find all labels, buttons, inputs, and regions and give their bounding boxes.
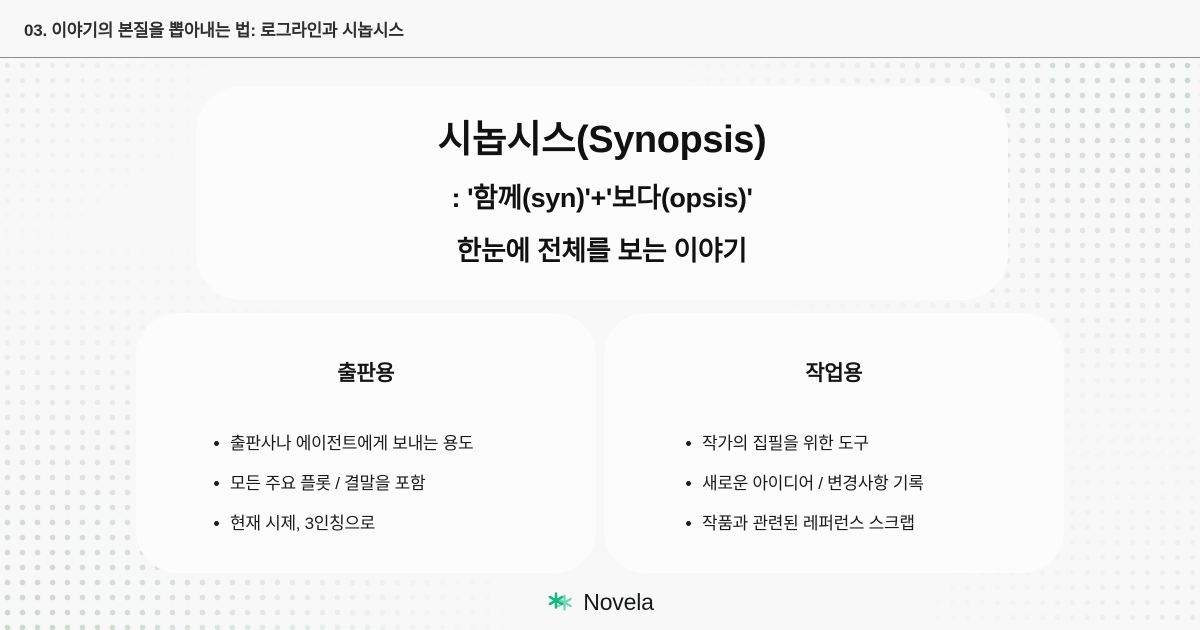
list-item: 모든 주요 플롯 / 결말을 포함 <box>214 475 596 492</box>
bullet-list-working: 작가의 집필을 위한 도구 새로운 아이디어 / 변경사항 기록 작품과 관련된… <box>604 435 1064 532</box>
panel-heading-publishing: 출판용 <box>136 357 596 387</box>
list-item: 현재 시제, 3인칭으로 <box>214 515 596 532</box>
list-item: 작가의 집필을 위한 도구 <box>686 435 1064 452</box>
panel-heading-working: 작업용 <box>604 357 1064 387</box>
list-item: 작품과 관련된 레퍼런스 스크랩 <box>686 515 1064 532</box>
list-item: 출판사나 에이전트에게 보내는 용도 <box>214 435 596 452</box>
definition-meaning: 한눈에 전체를 보는 이야기 <box>457 238 747 265</box>
brand-logo: Novela <box>546 588 653 616</box>
bullet-list-publishing: 출판사나 에이전트에게 보내는 용도 모든 주요 플롯 / 결말을 포함 현재 … <box>136 435 596 532</box>
definition-etymology: : '함께(syn)'+'보다(opsis)' <box>451 185 752 212</box>
slide-footer: Novela <box>0 588 1200 616</box>
definition-term: 시놉시스(Synopsis) <box>438 121 767 159</box>
list-item: 새로운 아이디어 / 변경사항 기록 <box>686 475 1064 492</box>
panel-publishing: 출판용 출판사나 에이전트에게 보내는 용도 모든 주요 플롯 / 결말을 포함… <box>136 313 596 573</box>
definition-card: 시놉시스(Synopsis) : '함께(syn)'+'보다(opsis)' 한… <box>196 86 1008 300</box>
page-title: 03. 이야기의 본질을 뽑아내는 법: 로그라인과 시놉시스 <box>24 16 404 41</box>
slide-header: 03. 이야기의 본질을 뽑아내는 법: 로그라인과 시놉시스 <box>0 0 1200 58</box>
asterisk-snowflake-icon <box>546 588 576 616</box>
slide-root: 03. 이야기의 본질을 뽑아내는 법: 로그라인과 시놉시스 시놉시스(Syn… <box>0 0 1200 630</box>
panel-working: 작업용 작가의 집필을 위한 도구 새로운 아이디어 / 변경사항 기록 작품과… <box>604 313 1064 573</box>
brand-wordmark: Novela <box>583 591 653 614</box>
